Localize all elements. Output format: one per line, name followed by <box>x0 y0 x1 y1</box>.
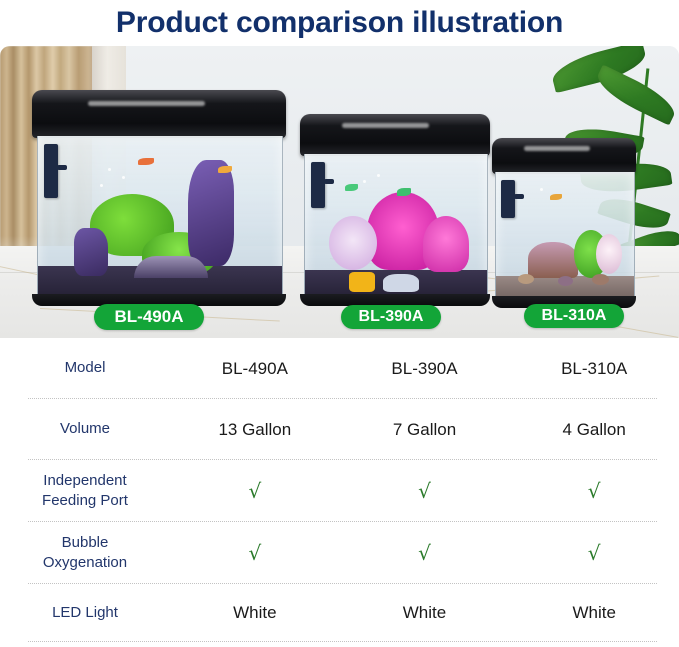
coral-ornament <box>596 234 622 274</box>
row-label: Volume <box>0 419 170 439</box>
row-value-bl-390a: BL-390A <box>340 359 510 379</box>
row-value-bl-310a: 4 Gallon <box>509 420 679 440</box>
shell-ornament <box>383 274 419 292</box>
table-row-led-light: LED Light White White White <box>0 584 679 642</box>
row-value-bl-490a: 13 Gallon <box>170 420 340 440</box>
coral-ornament <box>423 216 469 272</box>
row-value-bl-390a: 7 Gallon <box>340 420 510 440</box>
pebble <box>518 274 534 284</box>
fish <box>218 166 232 173</box>
tank-lid <box>32 90 286 138</box>
pebble <box>592 274 609 285</box>
row-value-bl-390a: √ <box>340 543 510 563</box>
table-row-bubble-oxygenation: Bubble Oxygenation √ √ √ <box>0 522 679 584</box>
row-value-bl-490a: BL-490A <box>170 359 340 379</box>
row-label: Model <box>0 358 170 378</box>
tank-glass <box>37 136 283 301</box>
table-row-model: Model BL-490A BL-390A BL-310A <box>0 338 679 399</box>
model-badge-bl-390a: BL-390A <box>341 305 441 329</box>
pebble <box>558 276 573 286</box>
product-photo: BL-490A BL-390A BL-310A <box>0 46 679 338</box>
tank-glass <box>495 172 635 303</box>
aquarium-medium <box>300 114 490 312</box>
product-comparison-page: Product comparison illustration <box>0 0 679 647</box>
spec-table: Model BL-490A BL-390A BL-310A Volume 13 … <box>0 338 679 647</box>
page-title: Product comparison illustration <box>0 0 679 46</box>
row-value-bl-490a: √ <box>170 543 340 563</box>
tank-glass <box>304 154 488 301</box>
check-icon: √ <box>418 481 431 501</box>
row-label: LED Light <box>0 603 170 623</box>
row-label: Bubble Oxygenation <box>0 533 170 574</box>
rock-ornament <box>74 228 108 276</box>
starfish-ornament <box>349 272 375 292</box>
check-icon: √ <box>248 481 261 501</box>
filter-pump <box>311 162 325 208</box>
fish <box>550 194 562 200</box>
model-badge-label: BL-490A <box>115 307 184 327</box>
row-value-bl-310a: White <box>509 603 679 623</box>
check-icon: √ <box>588 543 601 563</box>
table-row-volume: Volume 13 Gallon 7 Gallon 4 Gallon <box>0 399 679 460</box>
check-icon: √ <box>588 481 601 501</box>
row-value-bl-490a: √ <box>170 481 340 501</box>
row-value-bl-390a: √ <box>340 481 510 501</box>
fish <box>345 184 358 191</box>
tank-lid <box>300 114 490 156</box>
table-row-independent-feeding-port: Independent Feeding Port √ √ √ <box>0 460 679 522</box>
tank-lid <box>492 138 636 174</box>
filter-pump <box>44 144 58 198</box>
coral-ornament <box>329 216 377 270</box>
row-value-bl-390a: White <box>340 603 510 623</box>
model-badge-bl-310a: BL-310A <box>524 304 624 328</box>
check-icon: √ <box>248 543 261 563</box>
row-label-line1: Independent <box>43 471 126 491</box>
pagoda-ornament <box>528 242 578 278</box>
row-value-bl-490a: White <box>170 603 340 623</box>
row-label-line1: Bubble <box>62 533 109 553</box>
row-value-bl-310a: √ <box>509 543 679 563</box>
row-label: Independent Feeding Port <box>0 471 170 512</box>
bridge-ornament <box>134 256 208 278</box>
row-label-line2: Feeding Port <box>42 491 128 511</box>
row-value-bl-310a: √ <box>509 481 679 501</box>
row-label-line2: Oxygenation <box>43 553 127 573</box>
rock-ornament <box>188 160 234 266</box>
filter-pump <box>501 180 515 218</box>
check-icon: √ <box>418 543 431 563</box>
leaf-icon <box>592 64 679 125</box>
model-badge-label: BL-390A <box>359 308 424 326</box>
fish <box>397 188 411 196</box>
aquarium-large <box>32 90 286 312</box>
aquarium-small <box>492 138 636 312</box>
fish <box>138 158 154 165</box>
model-badge-label: BL-310A <box>542 307 607 325</box>
model-badge-bl-490a: BL-490A <box>94 304 204 330</box>
row-value-bl-310a: BL-310A <box>509 359 679 379</box>
